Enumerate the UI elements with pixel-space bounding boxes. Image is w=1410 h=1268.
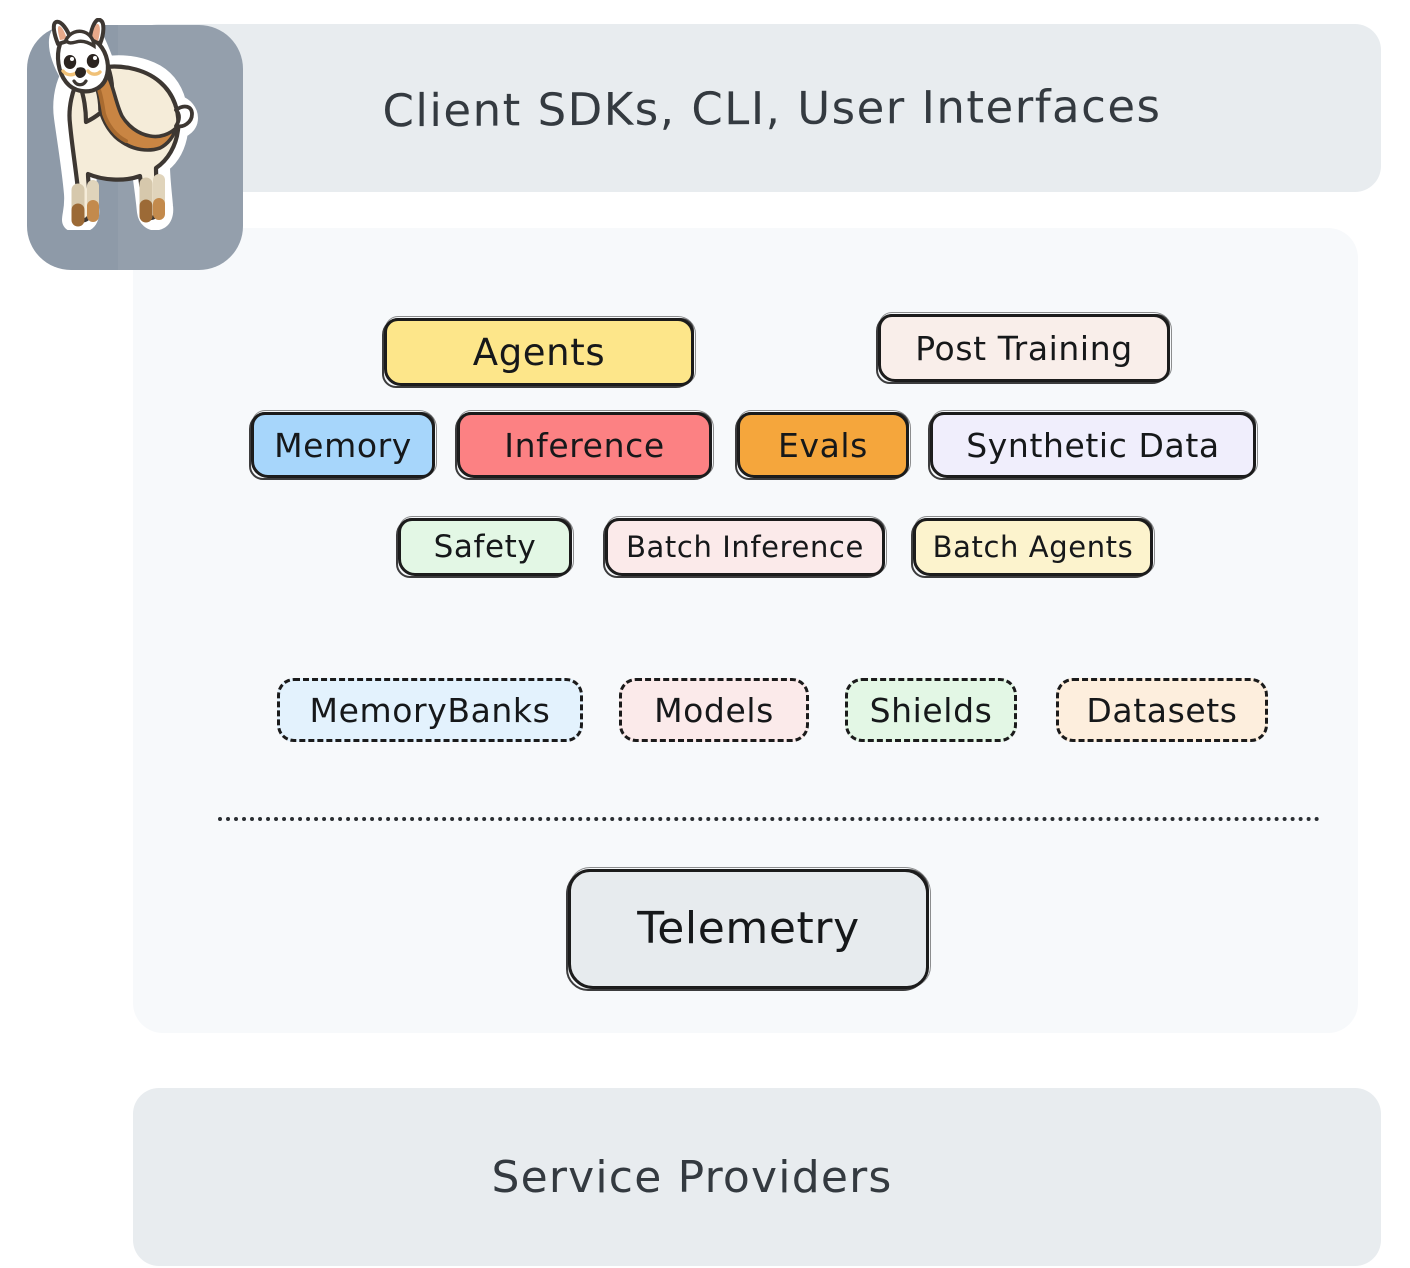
api-node-inference[interactable]: Inference: [457, 412, 712, 478]
service-providers-title: Service Providers: [133, 1088, 1381, 1266]
telemetry-node-label: Telemetry: [637, 907, 859, 951]
api-node-batch-inference[interactable]: Batch Inference: [605, 518, 885, 576]
resource-node-models[interactable]: Models: [619, 678, 809, 742]
api-node-synthetic-data[interactable]: Synthetic Data: [930, 412, 1256, 478]
api-node-safety-label: Safety: [434, 532, 537, 563]
api-node-safety[interactable]: Safety: [398, 518, 572, 576]
api-node-memory-label: Memory: [274, 429, 412, 462]
api-node-agents[interactable]: Agents: [384, 318, 694, 386]
llama-logo-icon: [30, 18, 198, 230]
diagram-canvas: Client SDKs, CLI, User Interfaces: [0, 0, 1410, 1268]
dotted-divider: [218, 817, 1320, 821]
telemetry-node[interactable]: Telemetry: [568, 869, 929, 989]
api-node-batch-agents[interactable]: Batch Agents: [913, 518, 1153, 576]
api-node-evals[interactable]: Evals: [737, 412, 909, 478]
api-node-batch-inference-label: Batch Inference: [626, 533, 864, 562]
api-node-post-training-label: Post Training: [915, 332, 1133, 365]
resource-node-datasets-label: Datasets: [1086, 694, 1237, 727]
resource-node-memorybanks[interactable]: MemoryBanks: [277, 678, 583, 742]
resource-node-shields[interactable]: Shields: [845, 678, 1017, 742]
api-node-batch-agents-label: Batch Agents: [933, 533, 1134, 562]
api-node-inference-label: Inference: [504, 429, 664, 462]
api-node-post-training[interactable]: Post Training: [878, 314, 1170, 382]
resource-node-datasets[interactable]: Datasets: [1056, 678, 1268, 742]
api-node-memory[interactable]: Memory: [251, 412, 435, 478]
client-layer-title: Client SDKs, CLI, User Interfaces: [133, 20, 1381, 196]
resource-node-shields-label: Shields: [870, 694, 993, 727]
api-node-evals-label: Evals: [778, 429, 868, 462]
api-node-synthetic-data-label: Synthetic Data: [966, 429, 1219, 462]
api-node-agents-label: Agents: [473, 334, 605, 371]
resource-node-memorybanks-label: MemoryBanks: [310, 694, 551, 727]
resource-node-models-label: Models: [654, 694, 774, 727]
